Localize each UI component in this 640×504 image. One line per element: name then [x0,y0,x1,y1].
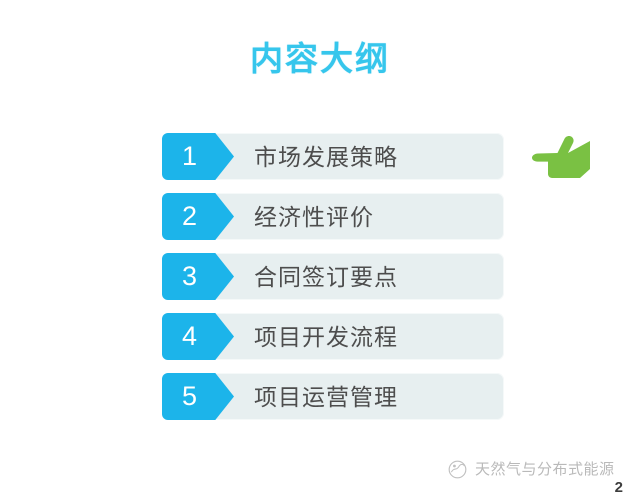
page-number: 2 [615,479,623,497]
list-item[interactable]: 2 经济性评价 [162,193,504,240]
outline-number-badge: 2 [162,193,234,240]
outline-item-label: 合同签订要点 [234,263,398,291]
outline-number-label: 1 [162,143,197,170]
list-item[interactable]: 4 项目开发流程 [162,313,504,360]
outline-number-label: 3 [162,263,197,290]
outline-number-badge: 4 [162,313,234,360]
outline-list: 1 市场发展策略 2 经济性评价 3 合同签订要点 4 项目开发流程 5 [162,133,504,433]
outline-number-label: 2 [162,203,197,230]
pointing-hand-left-icon [528,126,596,182]
list-item[interactable]: 1 市场发展策略 [162,133,504,180]
outline-item-label: 项目开发流程 [234,323,398,351]
outline-item-label: 经济性评价 [234,203,374,231]
outline-number-label: 5 [162,383,197,410]
outline-number-badge: 5 [162,373,234,420]
circular-logo-icon [447,459,468,480]
page-title: 内容大纲 [0,38,640,80]
outline-number-badge: 1 [162,133,234,180]
list-item[interactable]: 5 项目运营管理 [162,373,504,420]
watermark: 天然气与分布式能源 [447,459,615,480]
outline-number-badge: 3 [162,253,234,300]
slide-canvas: 内容大纲 1 市场发展策略 2 经济性评价 3 合同签订要点 4 项目开发流程 [0,0,640,504]
list-item[interactable]: 3 合同签订要点 [162,253,504,300]
outline-item-label: 市场发展策略 [234,143,398,171]
outline-number-label: 4 [162,323,197,350]
outline-item-label: 项目运营管理 [234,383,398,411]
watermark-label: 天然气与分布式能源 [475,461,615,479]
